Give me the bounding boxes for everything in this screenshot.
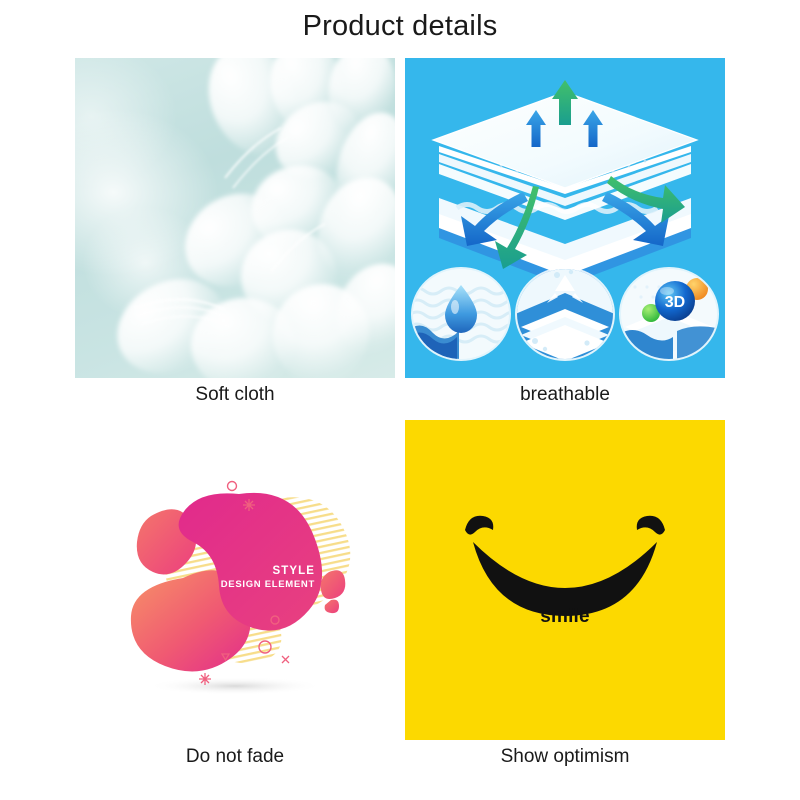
breathable-image: 3D (405, 58, 725, 378)
show-optimism-image: smile (405, 420, 725, 740)
blob-dot-right (325, 600, 339, 614)
style-line-1: STYLE (195, 565, 315, 579)
do-not-fade-image: STYLE DESIGN ELEMENT (75, 420, 395, 740)
panel-caption-do-not-fade: Do not fade (75, 746, 395, 768)
smile-label: smile (405, 606, 725, 628)
soft-cloth-image (75, 58, 395, 378)
detail-circles-row: 3D (413, 266, 717, 366)
smile-icon (465, 516, 665, 616)
page-title: Product details (0, 10, 800, 43)
three-d-circle: 3D (621, 269, 717, 359)
panel-caption-soft-cloth: Soft cloth (75, 384, 395, 406)
three-d-label: 3D (665, 294, 685, 311)
deco-x-1 (282, 656, 289, 663)
blob-shadow (147, 677, 323, 695)
deco-ring-1 (228, 482, 237, 491)
panel-caption-breathable: breathable (405, 384, 725, 406)
panel-caption-show-optimism: Show optimism (405, 746, 725, 768)
water-drop-circle (413, 269, 509, 359)
style-line-2: DESIGN ELEMENT (195, 579, 315, 590)
style-overlay-text: STYLE DESIGN ELEMENT (195, 565, 315, 590)
airflow-layers-circle (517, 269, 613, 359)
